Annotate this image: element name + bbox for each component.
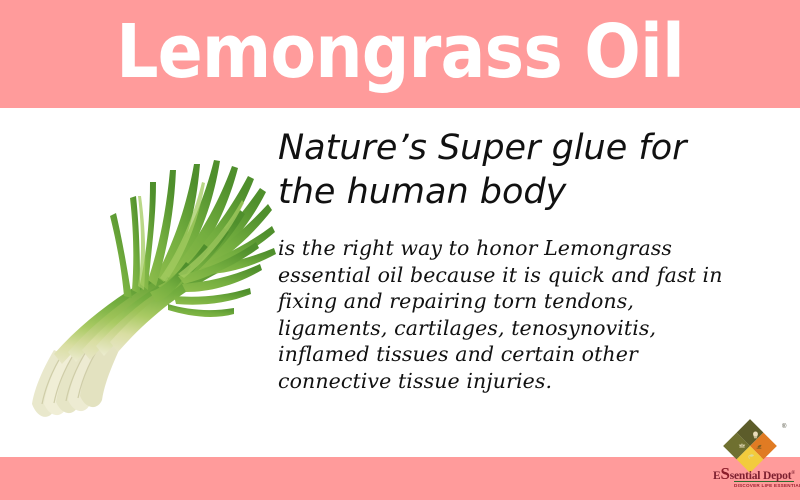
brand-logo[interactable]: ® ESsential Depot® DISCOVER LIFE ESSENTI… [712,418,796,496]
brand-name: ESsential Depot® [713,469,795,482]
brand-rest: sential Depot [730,470,792,482]
footer-banner [0,457,800,500]
lemongrass-graphic [28,104,278,460]
header-banner: Lemongrass Oil [0,0,800,108]
brand-tagline: DISCOVER LIFE ESSENTIALS [734,483,800,488]
poster-canvas: Lemongrass Oil [0,0,800,500]
headline: Nature’s Super glue for the human body [278,126,748,214]
page-title: Lemongrass Oil [40,4,760,100]
registered-mark: ® [782,424,786,430]
brand-trademark: ® [791,471,795,476]
logo-wordmark: ESsential Depot® DISCOVER LIFE ESSENTIAL… [712,468,796,494]
text-column: Nature’s Super glue for the human body i… [278,126,748,394]
logo-diamond-icon [722,418,778,474]
brand-s-mark: S [720,464,729,483]
lemongrass-image [28,104,278,460]
body-paragraph: is the right way to honor Lemongrass ess… [278,214,736,394]
